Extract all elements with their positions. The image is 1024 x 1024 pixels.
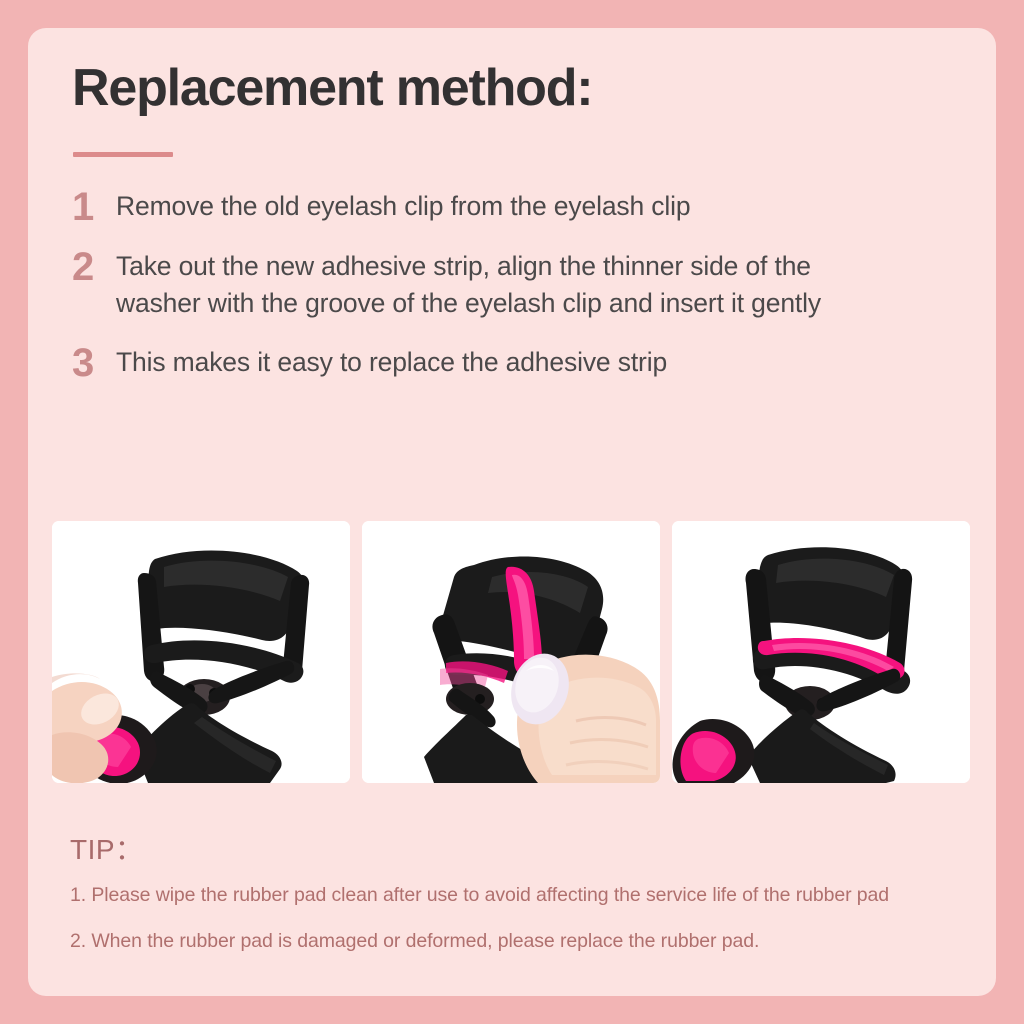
content-card: Replacement method: 1 Remove the old eye…: [28, 28, 996, 996]
photo-step-1-hold-curler: [52, 521, 350, 783]
photo-strip: [52, 521, 972, 783]
title-underline-accent: [73, 152, 173, 157]
tip-heading: TIP：: [70, 828, 970, 868]
tip-section: TIP： 1. Please wipe the rubber pad clean…: [70, 828, 970, 954]
photo-step-3-installed-pad: [672, 521, 970, 783]
step-text: Remove the old eyelash clip from the eye…: [116, 188, 876, 225]
photo-step-2-insert-strip: [362, 521, 660, 783]
steps-list: 1 Remove the old eyelash clip from the e…: [70, 188, 950, 404]
step-number: 3: [70, 344, 116, 382]
step-text: This makes it easy to replace the adhesi…: [116, 344, 876, 381]
step-item: 1 Remove the old eyelash clip from the e…: [70, 188, 950, 226]
tip-line: 2. When the rubber pad is damaged or def…: [70, 928, 970, 954]
step-number: 1: [70, 188, 116, 226]
step-text: Take out the new adhesive strip, align t…: [116, 248, 876, 322]
step-item: 2 Take out the new adhesive strip, align…: [70, 248, 950, 322]
step-number: 2: [70, 248, 116, 286]
tip-line: 1. Please wipe the rubber pad clean afte…: [70, 882, 970, 908]
infographic-page: Replacement method: 1 Remove the old eye…: [0, 0, 1024, 1024]
step-item: 3 This makes it easy to replace the adhe…: [70, 344, 950, 382]
page-title: Replacement method:: [72, 60, 592, 117]
